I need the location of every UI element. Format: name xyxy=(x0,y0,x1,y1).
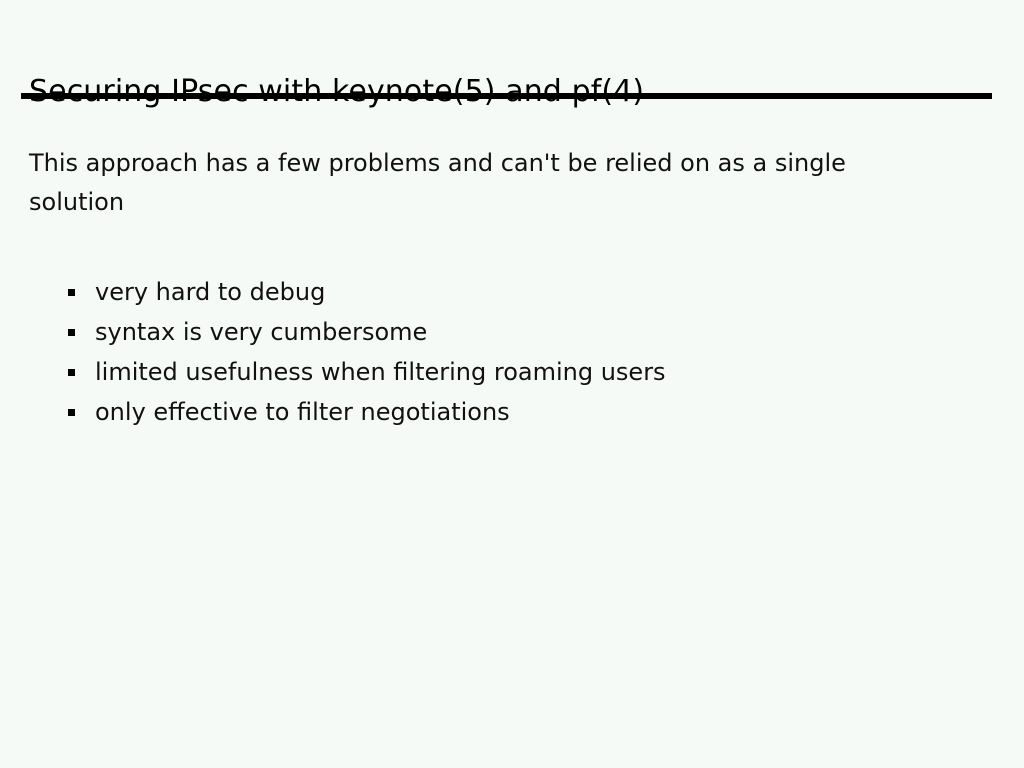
square-bullet-icon xyxy=(68,409,75,416)
lead-paragraph: This approach has a few problems and can… xyxy=(29,144,909,222)
list-item-label: very hard to debug xyxy=(95,278,325,306)
list-item: only effective to filter negotiations xyxy=(68,392,908,432)
list-item: limited usefulness when filtering roamin… xyxy=(68,352,908,392)
slide-body: This approach has a few problems and can… xyxy=(29,144,929,222)
list-item-label: only effective to filter negotiations xyxy=(95,398,510,426)
square-bullet-icon xyxy=(68,329,75,336)
square-bullet-icon xyxy=(68,289,75,296)
square-bullet-icon xyxy=(68,369,75,376)
list-item-label: syntax is very cumbersome xyxy=(95,318,427,346)
title-divider xyxy=(21,93,992,99)
list-item-label: limited usefulness when filtering roamin… xyxy=(95,358,666,386)
presentation-slide: Securing IPsec with keynote(5) and pf(4)… xyxy=(0,0,1024,768)
bullet-list: very hard to debug syntax is very cumber… xyxy=(68,272,908,432)
list-item: very hard to debug xyxy=(68,272,908,312)
list-item: syntax is very cumbersome xyxy=(68,312,908,352)
